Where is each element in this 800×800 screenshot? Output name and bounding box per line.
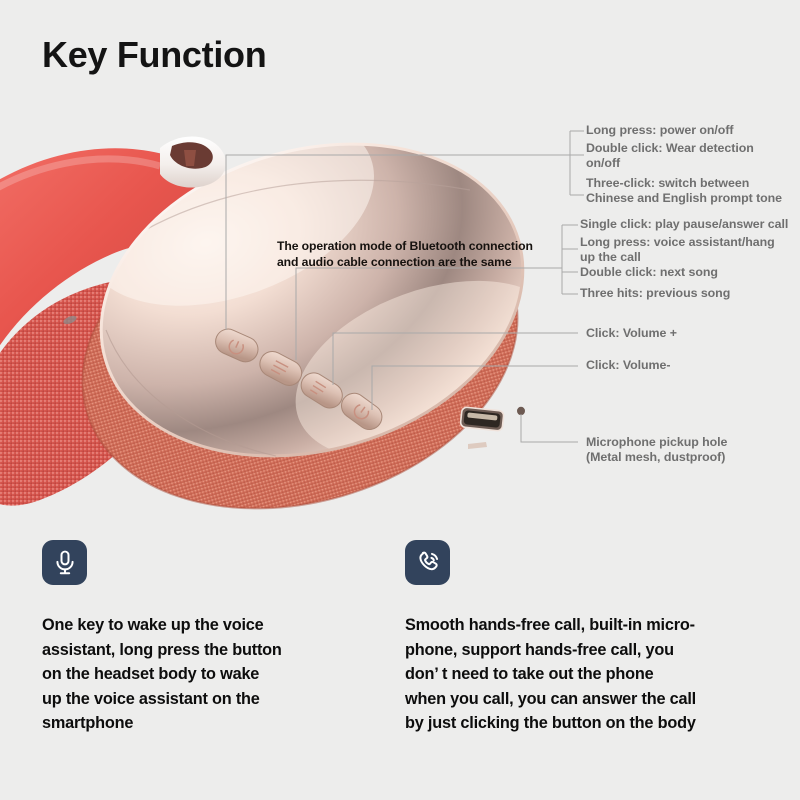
callout-volume-down: Click: Volume-: [586, 358, 670, 373]
feature-hands-free-call-text: Smooth hands-free call, built-in micro- …: [405, 613, 780, 736]
feature-voice-assistant-text: One key to wake up the voice assistant, …: [42, 613, 392, 736]
callout-wear-detection: Double click: Wear detection on/off: [586, 141, 754, 172]
bluetooth-note: The operation mode of Bluetooth connecti…: [277, 239, 533, 270]
callout-previous-song: Three hits: previous song: [580, 286, 730, 301]
phone-call-icon: [405, 540, 450, 585]
callout-microphone-hole: Microphone pickup hole (Metal mesh, dust…: [586, 435, 727, 466]
feature-hands-free-call: Smooth hands-free call, built-in micro- …: [405, 540, 755, 736]
infographic-page: Key Function: [0, 0, 800, 800]
callout-language-switch: Three-click: switch between Chinese and …: [586, 176, 782, 207]
callout-voice-assistant: Long press: voice assistant/hang up the …: [580, 235, 775, 266]
microphone-icon: [42, 540, 87, 585]
callout-next-song: Double click: next song: [580, 265, 718, 280]
callout-play-pause: Single click: play pause/answer call: [580, 217, 788, 232]
callout-power: Long press: power on/off: [586, 123, 733, 138]
callout-volume-up: Click: Volume +: [586, 326, 677, 341]
feature-voice-assistant: One key to wake up the voice assistant, …: [42, 540, 392, 736]
